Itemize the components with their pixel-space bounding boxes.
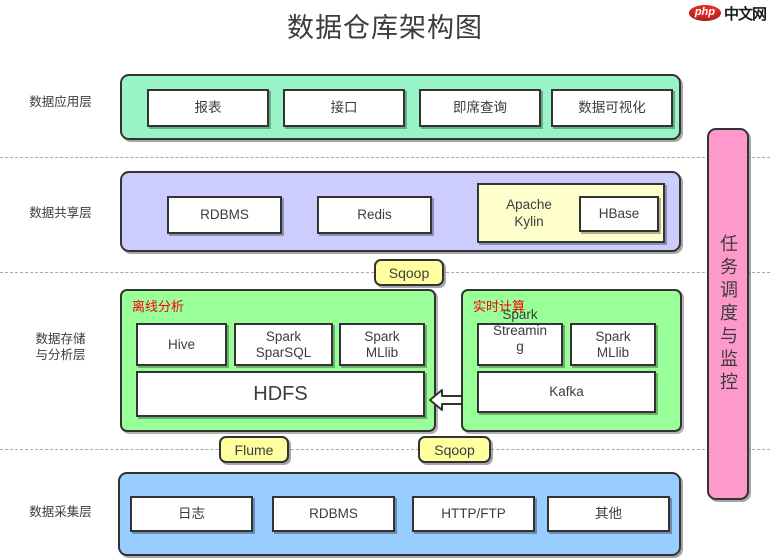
page-title: 数据仓库架构图 bbox=[0, 6, 770, 45]
task-schedule-monitor-bar: 任务调度与监控 bbox=[707, 128, 749, 500]
offline-item-spark-sparsql-line1: Spark bbox=[266, 329, 301, 345]
collection-item-other[interactable]: 其他 bbox=[547, 496, 670, 532]
layer-label-sharing: 数据共享层 bbox=[8, 205, 113, 221]
offline-item-spark-sparsql-line2: SparSQL bbox=[256, 345, 312, 361]
offline-analysis-title: 离线分析 bbox=[132, 296, 184, 315]
php-logo-badge: php bbox=[689, 5, 721, 21]
layer-label-storage-line1: 数据存储 bbox=[8, 331, 113, 347]
realtime-item-spark-mllib[interactable]: Spark MLlib bbox=[570, 323, 656, 366]
sharing-item-rdbms[interactable]: RDBMS bbox=[167, 196, 282, 234]
layer-sharing: RDBMS Redis Apache Kylin HBase bbox=[120, 171, 681, 252]
app-item-adhoc-query[interactable]: 即席查询 bbox=[419, 89, 541, 127]
connector-flume-bottom[interactable]: Flume bbox=[219, 436, 289, 463]
apache-kylin-label-line2: Kylin bbox=[485, 213, 573, 230]
realtime-item-spark-streaming[interactable]: Spark Streamin g bbox=[477, 323, 563, 366]
task-schedule-monitor-label: 任务调度与监控 bbox=[716, 234, 740, 395]
offline-item-spark-mllib-line1: Spark bbox=[364, 329, 399, 345]
realtime-item-spark-mllib-line1: Spark bbox=[595, 329, 630, 345]
divider-storage-collection bbox=[0, 449, 770, 450]
collection-item-http-ftp[interactable]: HTTP/FTP bbox=[412, 496, 535, 532]
layer-label-collection: 数据采集层 bbox=[8, 504, 113, 520]
connector-sqoop-top[interactable]: Sqoop bbox=[374, 259, 444, 286]
app-item-visualization[interactable]: 数据可视化 bbox=[551, 89, 673, 127]
sharing-item-apache-kylin[interactable]: Apache Kylin HBase bbox=[477, 183, 665, 243]
apache-kylin-label: Apache Kylin bbox=[485, 196, 573, 230]
panel-offline-analysis: 离线分析 Hive Spark SparSQL Spark MLlib HDFS bbox=[120, 289, 436, 432]
offline-item-hive[interactable]: Hive bbox=[136, 323, 227, 366]
layer-application: 报表 接口 即席查询 数据可视化 bbox=[120, 74, 681, 140]
offline-item-hdfs[interactable]: HDFS bbox=[136, 371, 425, 417]
divider-application-sharing bbox=[0, 157, 770, 158]
offline-item-spark-mllib[interactable]: Spark MLlib bbox=[339, 323, 425, 366]
site-logo: php 中文网 bbox=[689, 2, 766, 24]
panel-realtime-computing: 实时计算 Spark Streamin g Spark MLlib Kafka bbox=[461, 289, 682, 432]
realtime-item-spark-mllib-line2: MLlib bbox=[597, 345, 629, 361]
php-logo-text: 中文网 bbox=[724, 3, 766, 24]
layer-label-application: 数据应用层 bbox=[8, 94, 113, 110]
collection-item-rdbms[interactable]: RDBMS bbox=[272, 496, 395, 532]
layer-collection: 日志 RDBMS HTTP/FTP 其他 bbox=[118, 472, 681, 556]
arrow-kafka-to-hdfs bbox=[428, 386, 464, 414]
apache-kylin-label-line1: Apache bbox=[485, 196, 573, 213]
sharing-item-redis[interactable]: Redis bbox=[317, 196, 432, 234]
sharing-item-hbase[interactable]: HBase bbox=[579, 196, 659, 232]
app-item-report[interactable]: 报表 bbox=[147, 89, 269, 127]
connector-sqoop-bottom[interactable]: Sqoop bbox=[418, 436, 491, 463]
layer-label-storage-line2: 与分析层 bbox=[8, 347, 113, 363]
app-item-interface[interactable]: 接口 bbox=[283, 89, 405, 127]
offline-item-spark-mllib-line2: MLlib bbox=[366, 345, 398, 361]
realtime-item-spark-streaming-line2: Streamin bbox=[493, 323, 547, 339]
realtime-item-spark-streaming-line1: Spark bbox=[502, 307, 537, 323]
collection-item-log[interactable]: 日志 bbox=[130, 496, 253, 532]
realtime-item-spark-streaming-line3: g bbox=[516, 339, 524, 355]
realtime-item-kafka[interactable]: Kafka bbox=[477, 371, 656, 413]
layer-label-storage: 数据存储 与分析层 bbox=[8, 331, 113, 363]
offline-item-spark-sparsql[interactable]: Spark SparSQL bbox=[234, 323, 333, 366]
